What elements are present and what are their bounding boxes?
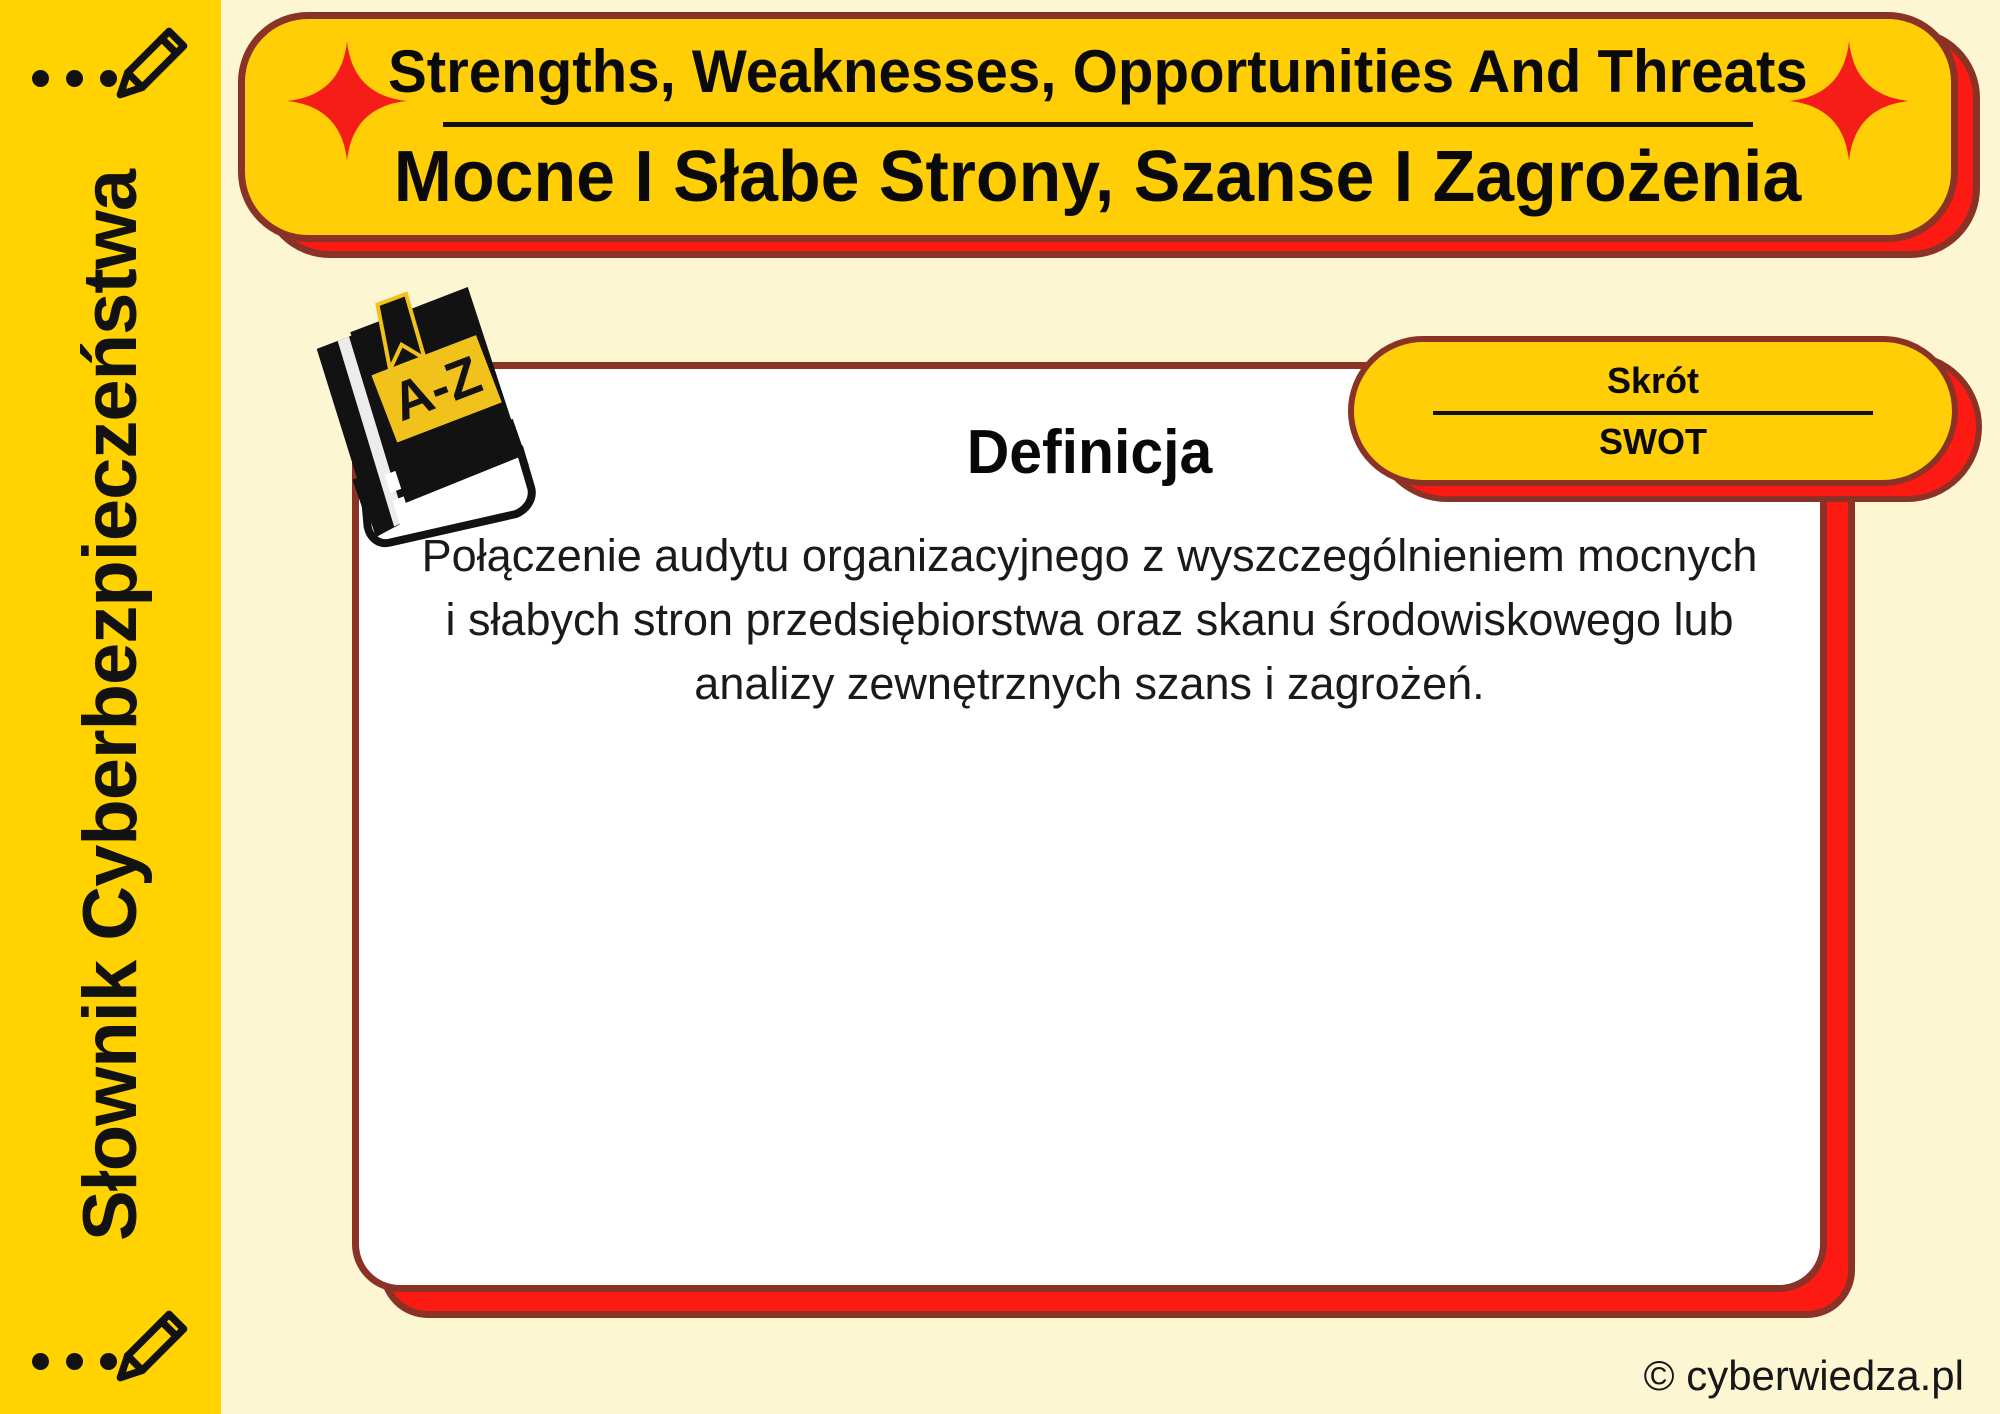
abbreviation-badge: Skrót SWOT: [1348, 336, 1958, 486]
abbreviation-value: SWOT: [1599, 424, 1707, 460]
az-dictionary-book-icon: A-Z: [292, 268, 552, 548]
abbreviation-label: Skrót: [1607, 363, 1699, 399]
sidebar-title: Słownik Cyberbezpieczeństwa: [67, 169, 154, 1240]
footer-credit: © cyberwiedza.pl: [1644, 1352, 1964, 1400]
header-divider: [443, 122, 1753, 127]
pencil-edit-icon: [113, 1307, 191, 1385]
sidebar: Słownik Cyberbezpieczeństwa: [0, 0, 221, 1414]
pencil-edit-icon: [113, 24, 191, 102]
sparkle-star-icon: [1789, 41, 1909, 161]
header-banner: Strengths, Weaknesses, Opportunities And…: [238, 12, 1958, 242]
definition-text: Połączenie audytu organizacyjnego z wysz…: [419, 524, 1760, 716]
flashcard-root: Słownik Cyberbezpieczeństwa Strengths, W…: [0, 0, 2000, 1414]
sidebar-title-container: Słownik Cyberbezpieczeństwa: [0, 125, 221, 1285]
header-title-english: Strengths, Weaknesses, Opportunities And…: [388, 42, 1808, 102]
ellipsis-dots-icon: [32, 70, 117, 87]
header-title-polish: Mocne I Słabe Strony, Szanse I Zagrożeni…: [394, 141, 1802, 213]
abbreviation-divider: [1433, 411, 1873, 415]
sidebar-top-mark: [28, 18, 193, 113]
ellipsis-dots-icon: [32, 1353, 117, 1370]
sidebar-bottom-mark: [28, 1301, 193, 1396]
